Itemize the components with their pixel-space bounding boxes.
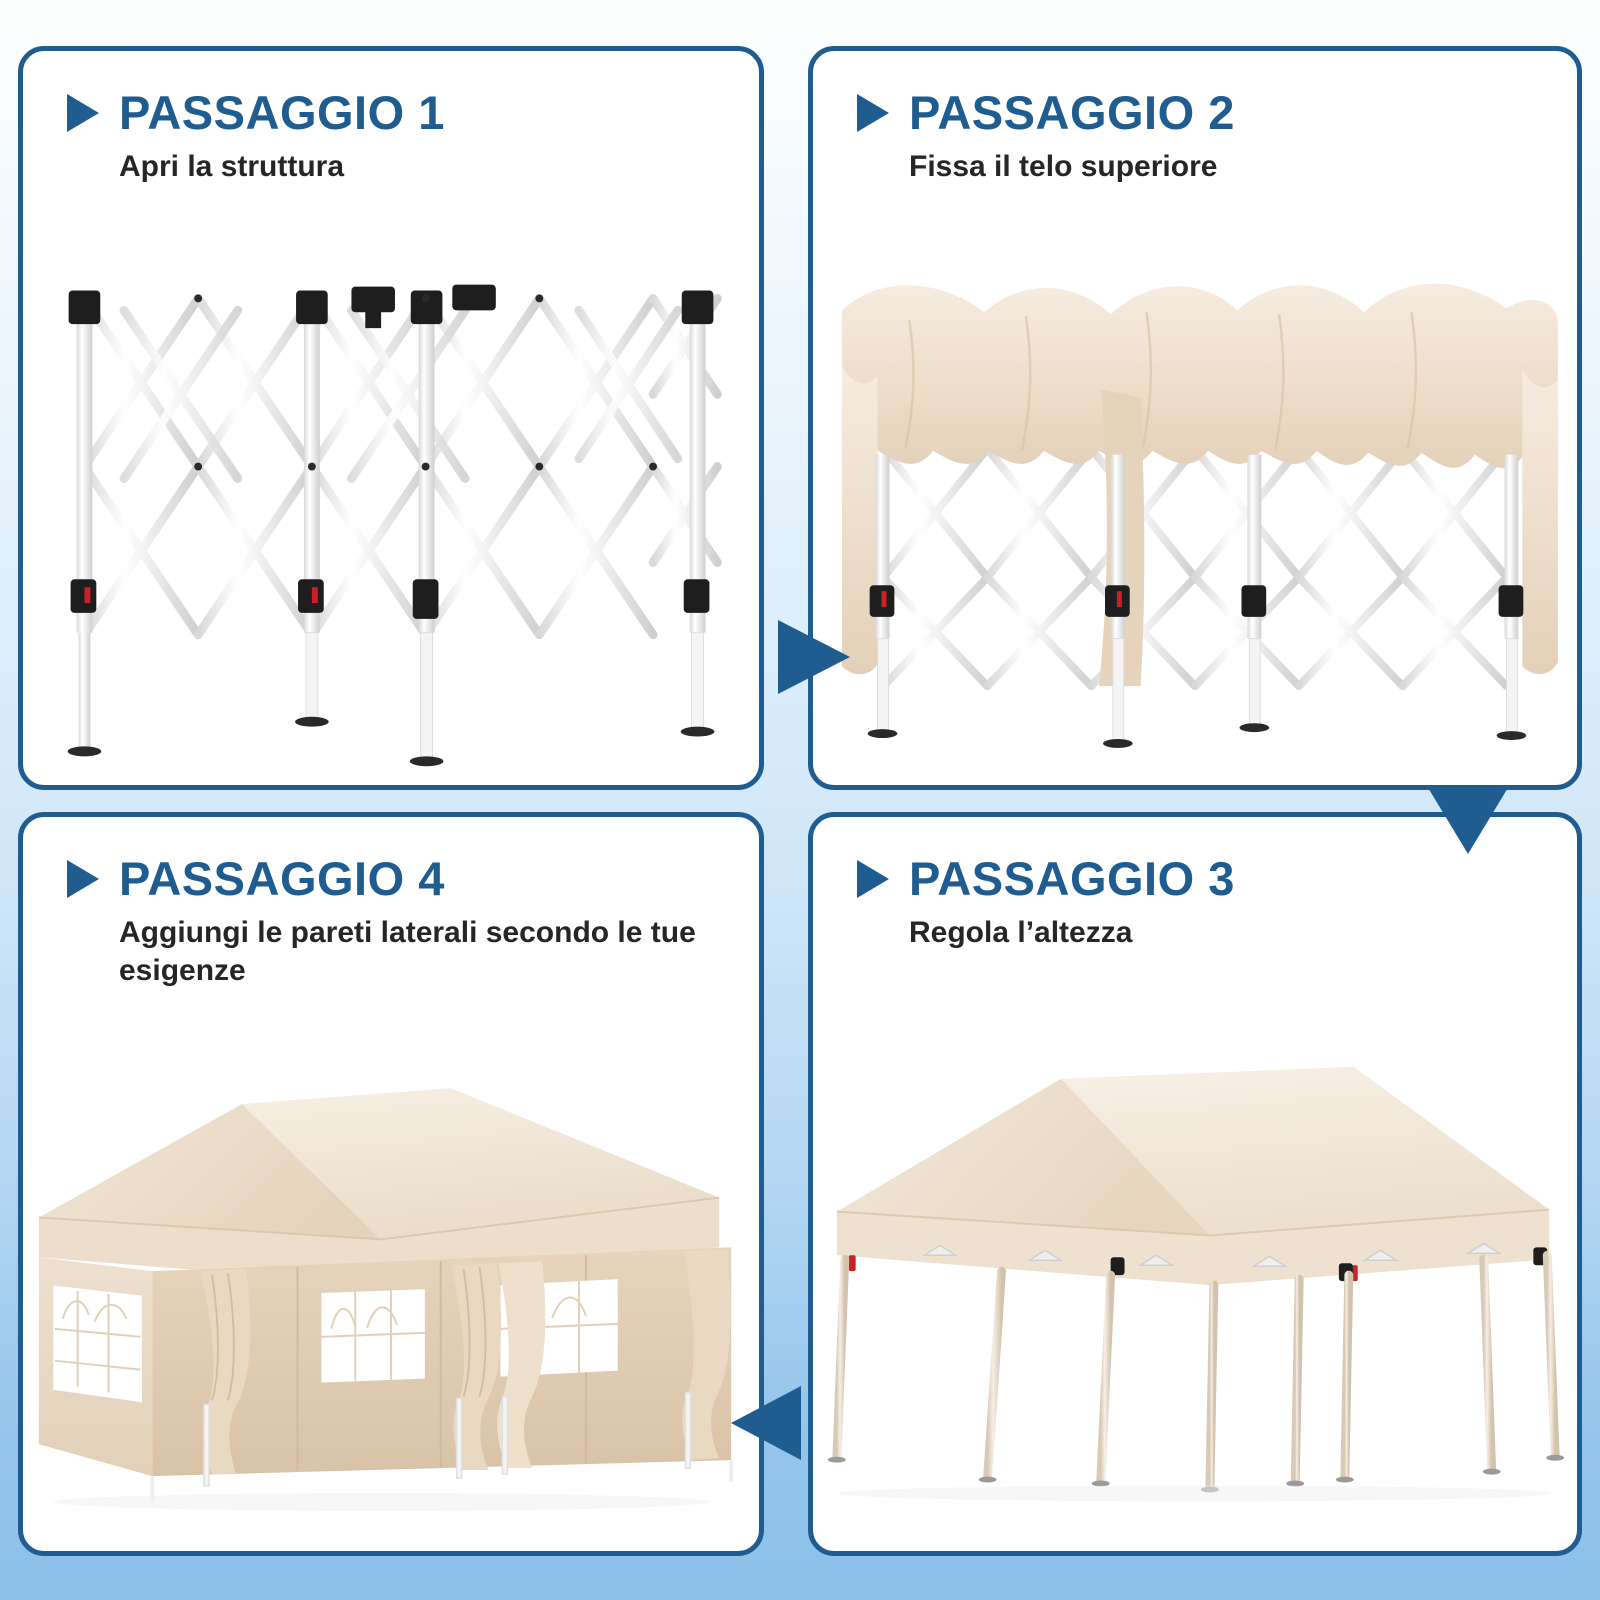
frame-with-draped-canopy-illustration [813, 251, 1577, 785]
step-3-title: PASSAGGIO 3 [909, 855, 1235, 902]
corner-flap [1522, 370, 1558, 674]
step-card-3: PASSAGGIO 3 Regola l’altezza [808, 812, 1582, 1556]
play-triangle-icon [857, 860, 889, 898]
step-1-header: PASSAGGIO 1 Apri la struttura [67, 89, 735, 186]
leg [410, 291, 444, 767]
step-2-illustration [813, 251, 1577, 785]
step-4-title-row: PASSAGGIO 4 [67, 855, 735, 902]
legs [837, 1255, 1555, 1487]
step-card-1: PASSAGGIO 1 Apri la struttura [18, 46, 764, 790]
step-2-title-row: PASSAGGIO 2 [857, 89, 1553, 136]
step-4-title: PASSAGGIO 4 [119, 855, 445, 902]
play-triangle-icon [67, 94, 99, 132]
step-1-title-row: PASSAGGIO 1 [67, 89, 735, 136]
leg [68, 291, 102, 757]
play-triangle-icon [67, 860, 99, 898]
play-triangle-icon [857, 94, 889, 132]
step-4-illustration [23, 1057, 759, 1551]
step-1-subtitle: Apri la struttura [119, 148, 729, 186]
leg [295, 291, 329, 727]
step-1-illustration [23, 251, 759, 785]
window-back-1 [321, 1289, 424, 1382]
ground-shadow [53, 1493, 709, 1511]
window-left [55, 1287, 141, 1400]
step-2-title: PASSAGGIO 2 [909, 89, 1235, 136]
leg [1497, 455, 1527, 740]
gazebo-with-side-walls-illustration [23, 1057, 759, 1551]
ground-shadow [838, 1485, 1552, 1501]
step-card-2: PASSAGGIO 2 Fissa il telo superiore [808, 46, 1582, 790]
step-4-subtitle: Aggiungi le pareti laterali secondo le t… [119, 914, 729, 990]
step-3-subtitle: Regola l’altezza [909, 914, 1519, 952]
folded-scissor-frame-illustration [23, 251, 759, 785]
arrow-down-icon [1427, 786, 1509, 854]
step-4-header: PASSAGGIO 4 Aggiungi le pareti laterali … [67, 855, 735, 990]
instruction-infographic: PASSAGGIO 1 Apri la struttura [0, 0, 1600, 1600]
step-3-header: PASSAGGIO 3 Regola l’altezza [857, 855, 1553, 952]
step-3-illustration [813, 1037, 1577, 1551]
arrow-right-icon [778, 620, 850, 694]
step-2-subtitle: Fissa il telo superiore [909, 148, 1519, 186]
step-card-4: PASSAGGIO 4 Aggiungi le pareti laterali … [18, 812, 764, 1556]
step-2-header: PASSAGGIO 2 Fissa il telo superiore [857, 89, 1553, 186]
step-1-title: PASSAGGIO 1 [119, 89, 445, 136]
arrow-left-icon [731, 1386, 801, 1460]
gazebo-raised-illustration [813, 1037, 1577, 1551]
step-3-title-row: PASSAGGIO 3 [857, 855, 1553, 902]
